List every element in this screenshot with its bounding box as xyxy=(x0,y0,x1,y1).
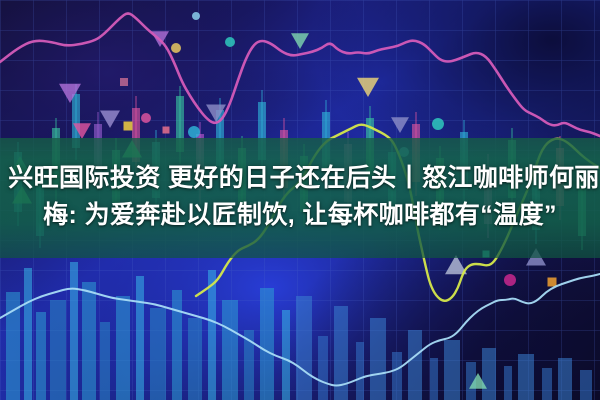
volume-bar xyxy=(116,296,130,400)
volume-bar xyxy=(172,290,182,400)
volume-bar xyxy=(260,288,274,400)
signal-marker-circle xyxy=(141,113,151,123)
signal-marker-circle xyxy=(171,43,181,53)
signal-marker-square xyxy=(124,122,133,131)
volume-bar xyxy=(370,318,386,400)
signal-marker-square xyxy=(120,78,128,86)
signal-marker-triangle-down xyxy=(100,111,120,129)
volume-bar xyxy=(318,336,328,400)
banner-image: 兴旺国际投资 更好的日子还在后头丨怒江咖啡师何丽 梅: 为爱奔赴以匠制饮, 让每… xyxy=(0,0,600,400)
volume-bar xyxy=(70,262,78,400)
volume-bar xyxy=(408,330,422,400)
signal-marker-square xyxy=(548,278,557,287)
volume-bar xyxy=(542,368,552,400)
signal-marker-circle xyxy=(192,12,200,20)
volume-bar xyxy=(518,354,534,400)
volume-bar xyxy=(296,296,312,400)
signal-marker-triangle-down xyxy=(291,33,309,49)
volume-bar xyxy=(356,342,364,400)
volume-bar xyxy=(136,276,144,400)
signal-marker-triangle-down xyxy=(391,117,409,133)
signal-marker-triangle-down xyxy=(357,78,379,97)
volume-bar xyxy=(580,370,592,400)
green-text-band xyxy=(0,138,600,258)
volume-bar xyxy=(558,358,572,400)
volume-bar xyxy=(82,282,96,400)
volume-bar xyxy=(36,312,46,400)
signal-marker-circle xyxy=(225,37,235,47)
volume-bar xyxy=(482,348,496,400)
signal-marker-circle xyxy=(504,274,516,286)
volume-bar xyxy=(208,270,216,400)
signal-marker-circle xyxy=(188,126,200,138)
volume-bar xyxy=(444,340,460,400)
volume-bar xyxy=(100,322,110,400)
series-price-line-magenta xyxy=(0,14,600,137)
volume-bar xyxy=(430,358,438,400)
volume-bar xyxy=(222,300,238,400)
volume-bar xyxy=(282,310,290,400)
volume-bar xyxy=(150,308,166,400)
volume-bar xyxy=(188,318,202,400)
volume-bar xyxy=(392,352,402,400)
volume-bar xyxy=(24,268,32,400)
volume-bars-group xyxy=(6,262,592,400)
volume-bar xyxy=(50,300,66,400)
volume-bar xyxy=(504,366,512,400)
signal-marker-circle xyxy=(432,118,444,130)
signal-marker-square xyxy=(163,127,170,134)
